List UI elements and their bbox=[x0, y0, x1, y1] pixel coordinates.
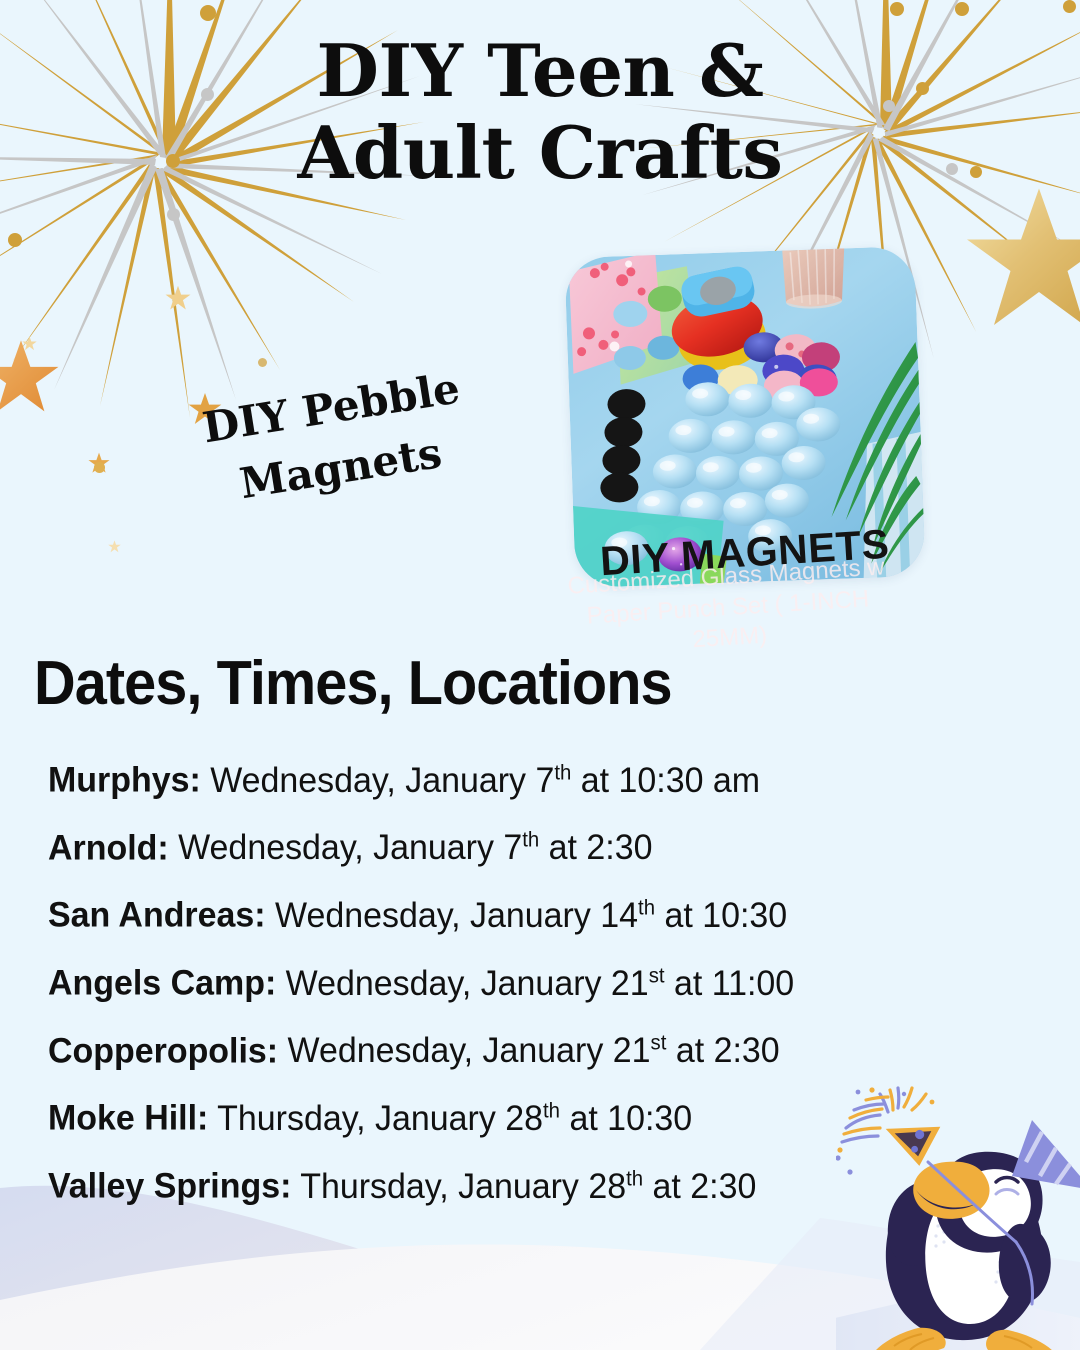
gold-star-icon bbox=[964, 184, 1080, 334]
schedule-location: Moke Hill: bbox=[48, 1099, 208, 1138]
schedule-date-ordinal: th bbox=[638, 896, 655, 919]
confetti-dot bbox=[94, 462, 105, 473]
schedule-location: Arnold: bbox=[48, 828, 169, 867]
confetti-dot bbox=[167, 208, 180, 221]
schedule-location: Valley Springs: bbox=[48, 1167, 291, 1206]
schedule-date-ordinal: th bbox=[626, 1167, 643, 1190]
schedule-date-number: 28 bbox=[505, 1099, 543, 1138]
schedule-date-ordinal: th bbox=[554, 761, 571, 784]
schedule-time: at 10:30 am bbox=[571, 761, 760, 800]
schedule-time: at 2:30 bbox=[539, 828, 652, 867]
section-heading: Dates, Times, Locations bbox=[34, 648, 672, 719]
schedule-datetime: Thursday, January 28th at 10:30 bbox=[208, 1099, 692, 1138]
schedule-day: Wednesday, January bbox=[201, 761, 536, 800]
schedule-row: Arnold: Wednesday, January 7th at 2:30 bbox=[48, 830, 979, 866]
schedule-row: Murphys: Wednesday, January 7th at 10:30… bbox=[48, 762, 979, 798]
schedule-date-ordinal: th bbox=[543, 1099, 560, 1122]
schedule-datetime: Thursday, January 28th at 2:30 bbox=[291, 1167, 756, 1206]
schedule-list: Murphys: Wednesday, January 7th at 10:30… bbox=[48, 762, 1008, 1236]
schedule-date-number: 7 bbox=[503, 828, 522, 867]
schedule-row: Angels Camp: Wednesday, January 21st at … bbox=[48, 965, 979, 1001]
gold-star-icon bbox=[0, 338, 60, 416]
schedule-date-number: 21 bbox=[613, 1031, 651, 1070]
schedule-datetime: Wednesday, January 21st at 11:00 bbox=[276, 964, 794, 1003]
schedule-datetime: Wednesday, January 21st at 2:30 bbox=[278, 1031, 780, 1070]
schedule-date-ordinal: th bbox=[522, 829, 539, 852]
gold-star-icon bbox=[22, 336, 37, 351]
schedule-date-ordinal: st bbox=[649, 964, 665, 987]
confetti-dot bbox=[200, 5, 216, 21]
schedule-location: San Andreas: bbox=[48, 896, 266, 935]
schedule-row: Valley Springs: Thursday, January 28th a… bbox=[48, 1168, 979, 1204]
confetti-dot bbox=[955, 2, 969, 16]
schedule-location: Copperopolis: bbox=[48, 1031, 278, 1070]
confetti-dot bbox=[8, 233, 22, 247]
schedule-day: Thursday, January bbox=[291, 1167, 588, 1206]
schedule-day: Thursday, January bbox=[208, 1099, 505, 1138]
gold-star-icon bbox=[165, 285, 191, 311]
schedule-date-number: 14 bbox=[600, 896, 638, 935]
schedule-date-ordinal: st bbox=[651, 1032, 667, 1055]
page-title: DIY Teen & Adult Crafts bbox=[0, 30, 1080, 194]
schedule-time: at 10:30 bbox=[655, 896, 787, 935]
schedule-datetime: Wednesday, January 7th at 10:30 am bbox=[201, 761, 760, 800]
schedule-location: Murphys: bbox=[48, 761, 201, 800]
gold-star-icon bbox=[108, 540, 121, 553]
schedule-time: at 10:30 bbox=[560, 1099, 692, 1138]
schedule-date-number: 21 bbox=[611, 964, 649, 1003]
poster-canvas: DIY Teen & Adult Crafts DIY Pebble Magne… bbox=[0, 0, 1080, 1350]
headline-line-1: DIY Teen & bbox=[317, 28, 764, 113]
gold-star-icon bbox=[88, 452, 110, 474]
confetti-dot bbox=[258, 358, 267, 367]
confetti-dot bbox=[890, 2, 904, 16]
schedule-row: Moke Hill: Thursday, January 28th at 10:… bbox=[48, 1100, 979, 1136]
pebble-magnets-label: DIY Pebble Magnets bbox=[178, 355, 493, 522]
confetti-dot bbox=[1063, 0, 1076, 13]
schedule-row: San Andreas: Wednesday, January 14th at … bbox=[48, 897, 979, 933]
schedule-time: at 11:00 bbox=[665, 964, 795, 1003]
schedule-time: at 2:30 bbox=[666, 1031, 779, 1070]
schedule-date-number: 28 bbox=[588, 1167, 626, 1206]
schedule-datetime: Wednesday, January 14th at 10:30 bbox=[266, 896, 788, 935]
schedule-day: Wednesday, January bbox=[276, 964, 611, 1003]
schedule-row: Copperopolis: Wednesday, January 21st at… bbox=[48, 1033, 979, 1069]
schedule-day: Wednesday, January bbox=[278, 1031, 613, 1070]
headline-line-2: Adult Crafts bbox=[298, 110, 783, 195]
schedule-day: Wednesday, January bbox=[169, 828, 504, 867]
schedule-day: Wednesday, January bbox=[266, 896, 601, 935]
schedule-time: at 2:30 bbox=[643, 1167, 756, 1206]
schedule-location: Angels Camp: bbox=[48, 964, 276, 1003]
schedule-datetime: Wednesday, January 7th at 2:30 bbox=[169, 828, 653, 867]
schedule-date-number: 7 bbox=[535, 761, 554, 800]
